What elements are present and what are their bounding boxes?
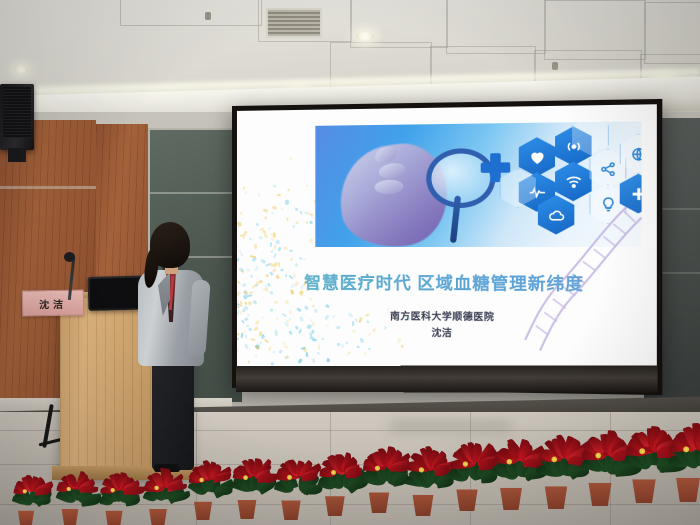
slide-particle-dot <box>270 242 272 247</box>
arm <box>187 279 210 356</box>
slide-particle-dot <box>285 356 289 359</box>
slide-particle-dot <box>276 240 280 244</box>
slide-particle-dot <box>306 220 309 224</box>
slide-particle-dot <box>267 227 271 231</box>
poinsettia-center <box>331 470 336 475</box>
poinsettia-center <box>67 487 71 491</box>
slide-particle-dot <box>346 341 348 344</box>
slide-particle-dot <box>321 338 324 341</box>
slide-particle-dot <box>311 214 315 218</box>
slide-particle-dot <box>346 350 351 354</box>
slide-particle-dot <box>295 263 299 267</box>
slide-particle-dot <box>253 300 257 305</box>
slide-particle-dot <box>356 345 360 348</box>
slide-particle-dot <box>271 249 275 253</box>
slide-particle-dot <box>305 352 307 357</box>
slide-particle-dot <box>242 185 245 190</box>
slide-particle-dot <box>309 220 313 224</box>
slide-particle-dot <box>312 339 317 342</box>
slide-particle-dot <box>262 208 268 213</box>
poinsettia-center <box>419 467 424 472</box>
poinsettia-center <box>463 461 468 466</box>
slide-particle-dot <box>277 194 281 196</box>
slide-particle-dot <box>327 358 331 362</box>
slide-particle-dot <box>340 343 343 347</box>
slide-particle-dot <box>251 255 257 258</box>
poinsettia-center <box>639 448 645 454</box>
presentation-hall-photo: 智慧医疗时代 区域血糖管理新纬度 南方医科大学顺德医院 沈洁 沈洁 <box>0 0 700 525</box>
slide-particle-dot <box>295 207 298 210</box>
hair <box>150 222 190 268</box>
slide-particle-dot <box>306 184 309 186</box>
flower-pot <box>278 501 303 521</box>
sprinkler-icon <box>552 62 558 70</box>
slide-particle-dot <box>368 348 372 351</box>
slide-particle-dot <box>237 243 239 247</box>
screen-valance <box>236 365 658 392</box>
wall-trim <box>0 186 96 189</box>
flower-pot <box>147 509 170 525</box>
magnifier-icon <box>426 148 495 208</box>
slide-particle-dot <box>295 222 299 224</box>
slide-particle-dot <box>286 216 289 221</box>
slide-particle-dot <box>292 225 296 229</box>
slide-particle-dot <box>242 234 245 239</box>
slide-particle-dot <box>278 262 280 267</box>
slide-particle-dot <box>255 355 258 358</box>
poinsettia-center <box>595 453 601 459</box>
slide-particle-dot <box>241 253 243 256</box>
slide-particle-dot <box>273 301 277 304</box>
poinsettia-plant <box>692 414 700 501</box>
poinsettia-row <box>0 398 700 525</box>
slide-particle-dot <box>239 211 243 215</box>
slide-particle-dot <box>302 257 307 261</box>
flower-pot <box>322 496 348 516</box>
slide-particle-dot <box>257 192 259 196</box>
slide-particle-dot <box>316 352 320 355</box>
slide-title: 智慧医疗时代 区域血糖管理新纬度 <box>237 269 657 295</box>
projection-screen: 智慧医疗时代 区域血糖管理新纬度 南方医科大学顺德医院 沈洁 <box>237 104 657 379</box>
slide-particle-dot <box>273 253 276 258</box>
slide-particle-dot <box>290 258 293 261</box>
slide-particle-dot <box>283 246 288 251</box>
slide-particle-dot <box>278 349 283 354</box>
poinsettia-center <box>199 477 204 482</box>
flower-pot <box>191 501 215 519</box>
slide-particle-dot <box>243 295 248 300</box>
slide-particle-dot <box>263 217 267 220</box>
slide-particle-dot <box>290 249 293 251</box>
slide-particle-dot <box>245 190 247 193</box>
slide-particle-dot <box>237 337 239 340</box>
slide-particle-dot <box>244 344 249 350</box>
flower-pot <box>59 509 81 525</box>
slide-particle-dot <box>237 349 239 352</box>
sprinkler-icon <box>205 12 211 20</box>
slide-particle-dot <box>290 157 293 160</box>
slide-particle-dot <box>273 350 276 353</box>
poinsettia-center <box>375 465 380 470</box>
hvac-vent-icon <box>266 8 322 38</box>
slide-particle-dot <box>337 343 340 347</box>
slide-particle-dot <box>287 188 290 191</box>
slide-particle-dot <box>255 222 259 226</box>
slide-particle-dot <box>364 351 367 356</box>
slide-particle-dot <box>248 238 252 242</box>
chalkboard-seam <box>150 192 238 194</box>
microphone-icon <box>64 252 75 262</box>
slide-particle-dot <box>272 206 277 210</box>
slide-particle-dot <box>312 358 315 363</box>
slide-particle-dot <box>283 345 288 349</box>
slide-particle-dot <box>274 245 277 250</box>
nameplate: 沈洁 <box>22 289 84 316</box>
slide-particle-dot <box>237 258 240 262</box>
slide-particle-dot <box>400 344 403 347</box>
slide-particle-dot <box>260 259 266 264</box>
slide-particle-dot <box>284 199 288 204</box>
poinsettia-center <box>287 475 292 480</box>
slide-particle-dot <box>277 246 282 251</box>
slide-particle-dot <box>299 358 302 362</box>
poinsettia-center <box>551 457 557 463</box>
slide-particle-dot <box>307 238 313 243</box>
slide-particle-dot <box>271 362 274 365</box>
slide-particle-dot <box>248 360 251 364</box>
slide-particle-dot <box>271 212 274 214</box>
slide-particle-dot <box>318 345 320 350</box>
slide-particle-dot <box>258 236 263 241</box>
medical-cross-icon <box>490 153 501 182</box>
projection-screen-frame: 智慧医疗时代 区域血糖管理新纬度 南方医科大学顺德医院 沈洁 <box>232 99 662 395</box>
ceiling-light-icon <box>14 66 28 73</box>
slide-particle-dot <box>260 341 263 344</box>
flower-pot <box>103 510 126 525</box>
ceiling-light-icon <box>356 32 374 41</box>
slide-particle-dot <box>284 299 289 303</box>
slide-particle-dot <box>268 346 271 350</box>
wifi-icon <box>555 162 592 202</box>
slide-particle-dot <box>250 339 255 342</box>
flower-pot <box>234 500 259 519</box>
slide-particle-dot <box>254 244 258 249</box>
slide-particle-dot <box>272 184 277 189</box>
flower-pot <box>15 511 36 525</box>
slide-particle-dot <box>264 339 269 343</box>
slide-particle-dot <box>299 210 302 214</box>
speaker-mount <box>8 148 26 162</box>
slide-particle-dot <box>263 233 268 239</box>
slide-particle-dot <box>309 297 313 301</box>
slide-particle-dot <box>237 221 242 227</box>
slide-particle-dot <box>281 208 285 211</box>
poinsettia-center <box>23 489 27 493</box>
heart-icon <box>519 137 555 177</box>
slide-particle-dot <box>247 300 252 305</box>
loudspeaker-icon <box>0 84 34 150</box>
slide-particle-dot <box>274 233 276 238</box>
